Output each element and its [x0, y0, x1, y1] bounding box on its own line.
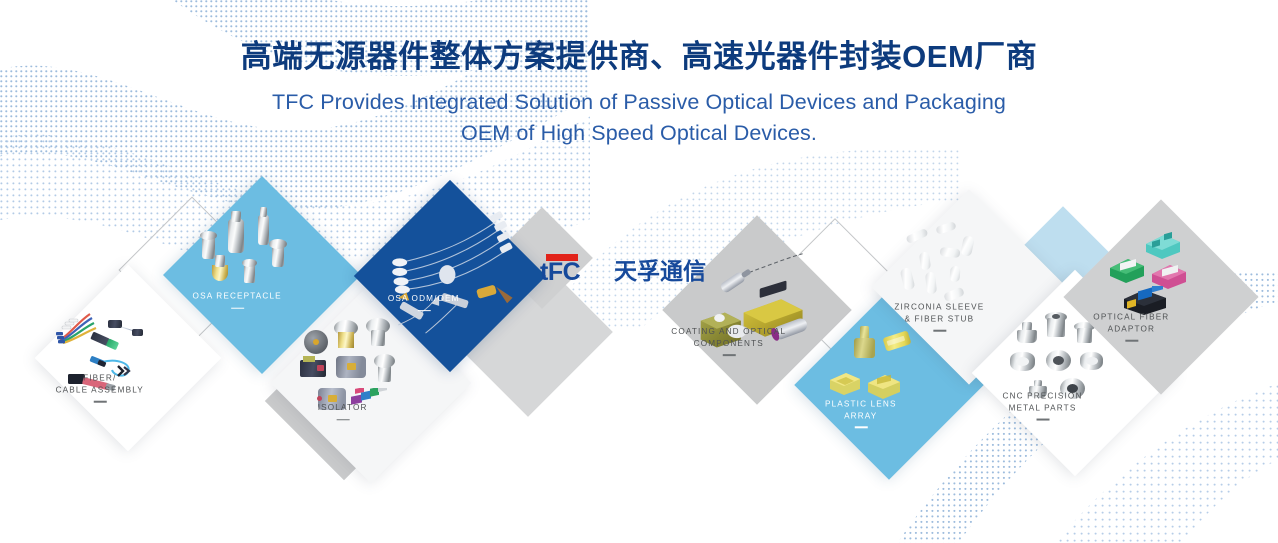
cnc-part-8 [1060, 378, 1086, 400]
isolator-gold-body-1 [338, 332, 354, 348]
receptacle-part-3 [258, 215, 269, 245]
ceramic-sleeve-4 [919, 251, 931, 270]
ceramic-sleeve-7 [925, 272, 937, 295]
ceramic-sleeve-5 [940, 247, 961, 258]
receptacle-part-4 [215, 255, 225, 267]
adaptor-green [1108, 256, 1146, 284]
product-category-banner: 高端无源器件整体方案提供商、高速光器件封装OEM厂商 TFC Provides … [0, 0, 1278, 543]
lens-array-block-2 [866, 372, 902, 400]
subtitle-line-1: TFC Provides Integrated Solution of Pass… [0, 87, 1278, 118]
cnc-part-4 [1010, 352, 1036, 372]
lens-array-block-1 [828, 370, 862, 396]
logo-chinese-name: 天孚通信 [614, 259, 706, 284]
isolator-cylinder-1 [336, 356, 366, 378]
receptacle-flange-5 [242, 259, 257, 267]
tile-artwork-osa-odm-oem [382, 208, 518, 344]
isolator-module-1 [300, 360, 326, 377]
dual-connector-art [116, 364, 132, 378]
cnc-part-5 [1046, 350, 1072, 372]
tile-artwork-coating-optical-components [690, 243, 824, 377]
mpo-green-connector-art [89, 330, 126, 357]
receptacle-part-2 [228, 219, 244, 253]
tfc-logo-mark: tFC [540, 254, 606, 284]
cnc-part-7 [1028, 380, 1048, 400]
ceramic-sleeve-3 [960, 235, 975, 257]
receptacle-flange-6 [269, 239, 287, 249]
ceramic-sleeve-6 [900, 267, 916, 291]
receptacle-tip-2 [231, 211, 241, 222]
isolator-cylinder-2 [318, 388, 346, 410]
headline-block: 高端无源器件整体方案提供商、高速光器件封装OEM厂商 TFC Provides … [0, 38, 1278, 149]
cnc-part-1 [1016, 322, 1038, 344]
ceramic-sleeve-2 [935, 221, 956, 235]
adaptor-blue-black [1122, 286, 1168, 316]
isolator-colored-assembly [350, 388, 390, 410]
cnc-part-2 [1044, 312, 1068, 338]
ceramic-sleeve-8 [949, 266, 960, 283]
connector-block-art-2 [132, 329, 143, 336]
lens-ferrule-metal [852, 326, 878, 360]
page-subtitle-english: TFC Provides Integrated Solution of Pass… [0, 87, 1278, 149]
receptacle-tip-3 [260, 207, 267, 217]
receptacle-gold-body [212, 265, 228, 281]
tfc-logo: tFC 天孚通信 [540, 254, 706, 284]
logo-wordmark: tFC [540, 260, 580, 284]
isolator-disc-1 [304, 330, 328, 354]
ceramic-sleeve-1 [905, 228, 928, 244]
tile-osa-odm-oem[interactable]: OSA ODM/OEM [354, 180, 546, 372]
adaptor-teal [1144, 232, 1182, 260]
tile-optical-fiber-adaptor[interactable]: OPTICAL FIBER ADAPTOR [1063, 199, 1258, 394]
page-title-chinese: 高端无源器件整体方案提供商、高速光器件封装OEM厂商 [0, 38, 1278, 77]
receptacle-flange-1 [200, 231, 217, 240]
subtitle-line-2: OEM of High Speed Optical Devices. [0, 118, 1278, 149]
tile-artwork-fiber-cable-assembly [62, 292, 194, 424]
isolator-ferrule-3 [374, 354, 395, 368]
tile-artwork-optical-fiber-adaptor [1092, 228, 1230, 366]
ceramic-sleeve-9 [943, 287, 965, 303]
